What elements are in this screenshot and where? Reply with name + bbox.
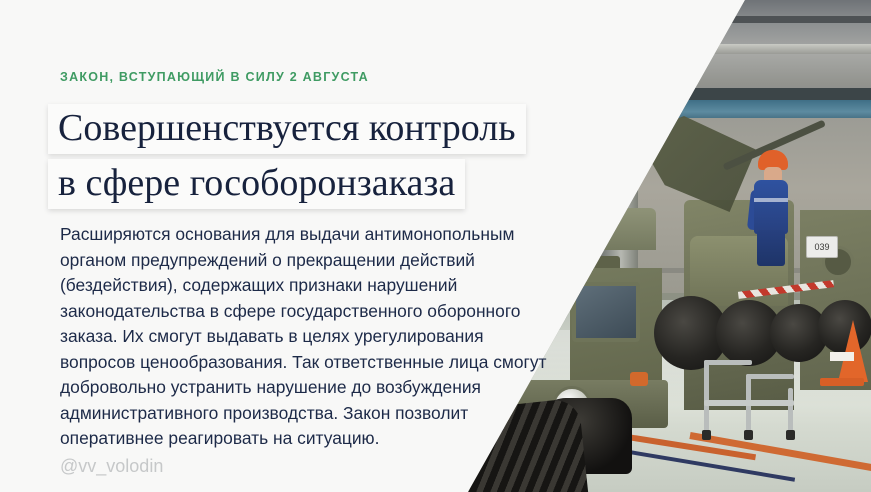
worker-legs (757, 230, 785, 266)
platform-foot (744, 430, 753, 440)
body-text: Расширяются основания для выдачи антимон… (60, 222, 560, 452)
ceiling-lamp-icon (556, 30, 600, 74)
ceiling-beam (440, 88, 871, 100)
traffic-cone-base (820, 378, 864, 386)
kicker-label: ЗАКОН, ВСТУПАЮЩИЙ В СИЛУ 2 АВГУСТА (60, 70, 369, 84)
platform-bar (788, 388, 793, 432)
truck-window (572, 282, 640, 342)
traffic-cone-icon (838, 320, 868, 382)
platform-bar (704, 360, 709, 432)
platform-bar (746, 374, 794, 379)
headline-line-1: Совершенствуется контроль (48, 104, 526, 154)
platform-foot (702, 430, 711, 440)
page-title: Совершенствуется контроль в сфере гособо… (48, 104, 608, 214)
platform-bar (704, 400, 794, 406)
ceiling-beam (440, 16, 871, 23)
author-handle: @vv_volodin (60, 456, 163, 477)
marker-light-icon (630, 372, 648, 386)
worker-figure (750, 150, 794, 260)
traffic-cone-band (830, 352, 854, 361)
platform-foot (786, 430, 795, 440)
hi-vis-stripe (754, 198, 788, 202)
body-paragraph: Расширяются основания для выдачи антимон… (60, 222, 560, 452)
ceiling-beam (440, 44, 871, 54)
ceiling-fixture (586, 88, 593, 97)
step-platform (700, 360, 804, 440)
text-panel: ЗАКОН, ВСТУПАЮЩИЙ В СИЛУ 2 АВГУСТА Совер… (0, 0, 470, 492)
info-card-slide: 039 (0, 0, 871, 492)
vehicle-number-plate: 039 (806, 236, 838, 258)
worker-overalls (754, 180, 788, 234)
platform-bar (704, 360, 752, 365)
headline-line-2: в сфере гособоронзаказа (48, 159, 465, 209)
